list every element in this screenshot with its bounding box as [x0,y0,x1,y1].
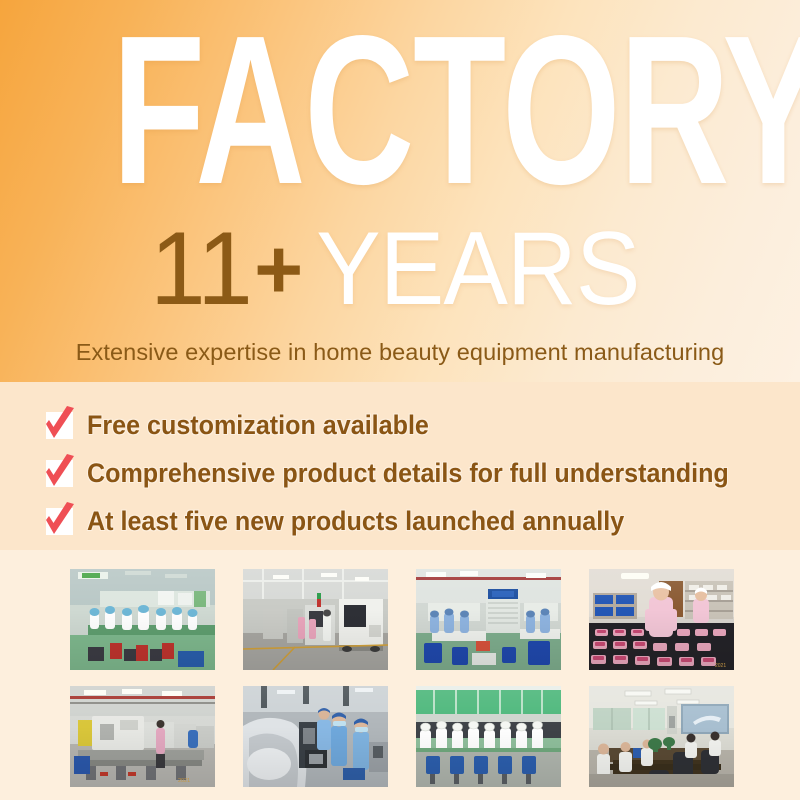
check-icon [46,508,73,535]
photo-grid: 2021 [70,569,734,787]
svg-text:2021: 2021 [178,778,190,784]
gallery-photo-assembly-line-workers [70,569,215,670]
gallery-photo-cnc-machine-floor [243,569,388,670]
gallery-photo-meeting-room-presentation [589,686,734,787]
check-icon [46,460,73,487]
gallery-photo-production-line-blue-uniforms [416,569,561,670]
feature-item-2: Comprehensive product details for full u… [46,450,800,496]
years-number: 11 [150,218,252,320]
factory-promo-banner: FACTORY 11+YEARS Extensive expertise in … [0,0,800,800]
gallery-section: 2021 [0,550,800,800]
gallery-photo-packaging-inspection: 2021 [589,569,734,670]
feature-item-1: Free customization available [46,402,800,448]
feature-label: Free customization available [87,410,429,441]
hero-section: FACTORY 11+YEARS Extensive expertise in … [0,0,800,382]
gallery-photo-green-curtain-assembly-line [416,686,561,787]
features-section: Free customization available Comprehensi… [0,382,800,550]
plus-icon: + [254,218,304,320]
feature-label: At least five new products launched annu… [87,506,624,537]
svg-text:2021: 2021 [715,663,726,669]
gallery-photo-equipment-operators [243,686,388,787]
feature-label: Comprehensive product details for full u… [87,458,729,489]
hero-subtitle: Extensive expertise in home beauty equip… [0,339,800,366]
check-icon [46,412,73,439]
years-label: YEARS [316,218,639,320]
page-title: FACTORY [112,14,688,206]
gallery-photo-injection-molding-shop: 2021 [70,686,215,787]
feature-item-3: At least five new products launched annu… [46,498,800,544]
years-headline: 11+YEARS [0,218,800,351]
